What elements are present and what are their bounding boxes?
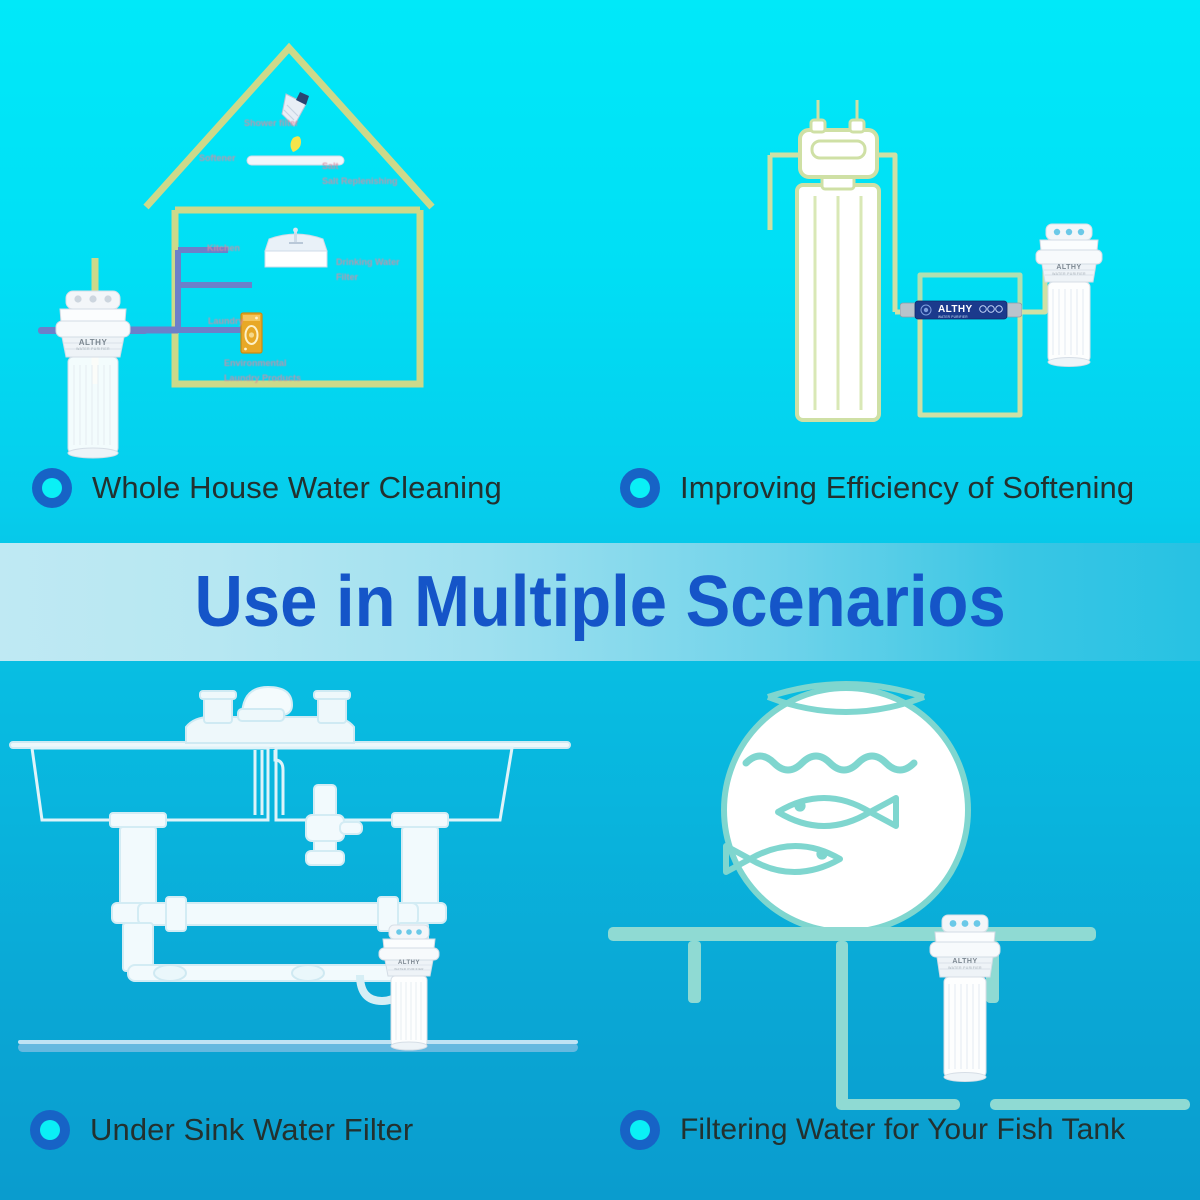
uv-brand-tagline: WATER PURIFIER (938, 315, 968, 319)
filter-product-fish-tank: ALTHY WATER PURIFIER (920, 909, 1010, 1091)
caption-label: Whole House Water Cleaning (92, 470, 502, 506)
filter-brand-tagline: WATER PURIFIER (370, 967, 448, 971)
house-annotation-drinking-water: Drinking Water (336, 257, 400, 267)
house-annotation-salt-replenishing: Salt Replenishing (322, 176, 398, 186)
bullet-icon (620, 468, 660, 508)
filter-brand-tagline: WATER PURIFIER (38, 347, 148, 351)
house-annotation-environmental: Environmental (224, 358, 287, 368)
scenario-panel-whole-house: Shower filter Softener Softener Salt Sal… (0, 0, 600, 540)
filter-product-softening: ALTHY WATER PURIFIER (1024, 218, 1114, 370)
bullet-icon (32, 468, 72, 508)
filter-product-whole-house: ALTHY WATER PURIFIER (38, 283, 148, 461)
caption-label: Under Sink Water Filter (90, 1112, 413, 1148)
scenario-panel-softening: ALTHY WATER PURIFIER (600, 0, 1200, 540)
section-banner: Use in Multiple Scenarios (0, 543, 1200, 661)
caption-under-sink: Under Sink Water Filter (30, 1110, 413, 1150)
scenarios-infographic: Shower filter Softener Softener Salt Sal… (0, 0, 1200, 1200)
filter-brand-label: ALTHY (1024, 264, 1114, 271)
house-annotation-softener: Softener (199, 153, 236, 163)
filter-brand-label: ALTHY (38, 338, 148, 347)
house-annotation-filter: Filter (336, 272, 358, 282)
filter-product-under-sink: ALTHY WATER PURIFIER (370, 920, 448, 1055)
filter-brand-tagline: WATER PURIFIER (1024, 272, 1114, 276)
caption-softening: Improving Efficiency of Softening (620, 468, 1134, 508)
house-annotation-shower-filter: Shower filter (244, 118, 299, 128)
filter-brand-label: ALTHY (920, 958, 1010, 965)
caption-label: Filtering Water for Your Fish Tank (680, 1113, 1125, 1147)
house-annotation-kitchen: Kitchen (207, 243, 240, 253)
caption-fish-tank: Filtering Water for Your Fish Tank (620, 1110, 1125, 1150)
house-annotation-laundry-products: Laundry Products (224, 373, 301, 383)
house-annotation-laundry: Laundry (208, 316, 244, 326)
filter-brand-tagline: WATER PURIFIER (920, 966, 1010, 970)
caption-label: Improving Efficiency of Softening (680, 470, 1134, 506)
bullet-icon (620, 1110, 660, 1150)
bullet-icon (30, 1110, 70, 1150)
fish-bowl (724, 684, 968, 932)
uv-sterilizer: ALTHY WATER PURIFIER (900, 293, 1022, 327)
banner-title: Use in Multiple Scenarios (194, 561, 1005, 643)
filter-brand-label: ALTHY (370, 960, 448, 966)
caption-whole-house: Whole House Water Cleaning (32, 468, 502, 508)
uv-brand-label: ALTHY (938, 304, 973, 315)
house-annotation-salt-word: Salt (322, 161, 339, 171)
